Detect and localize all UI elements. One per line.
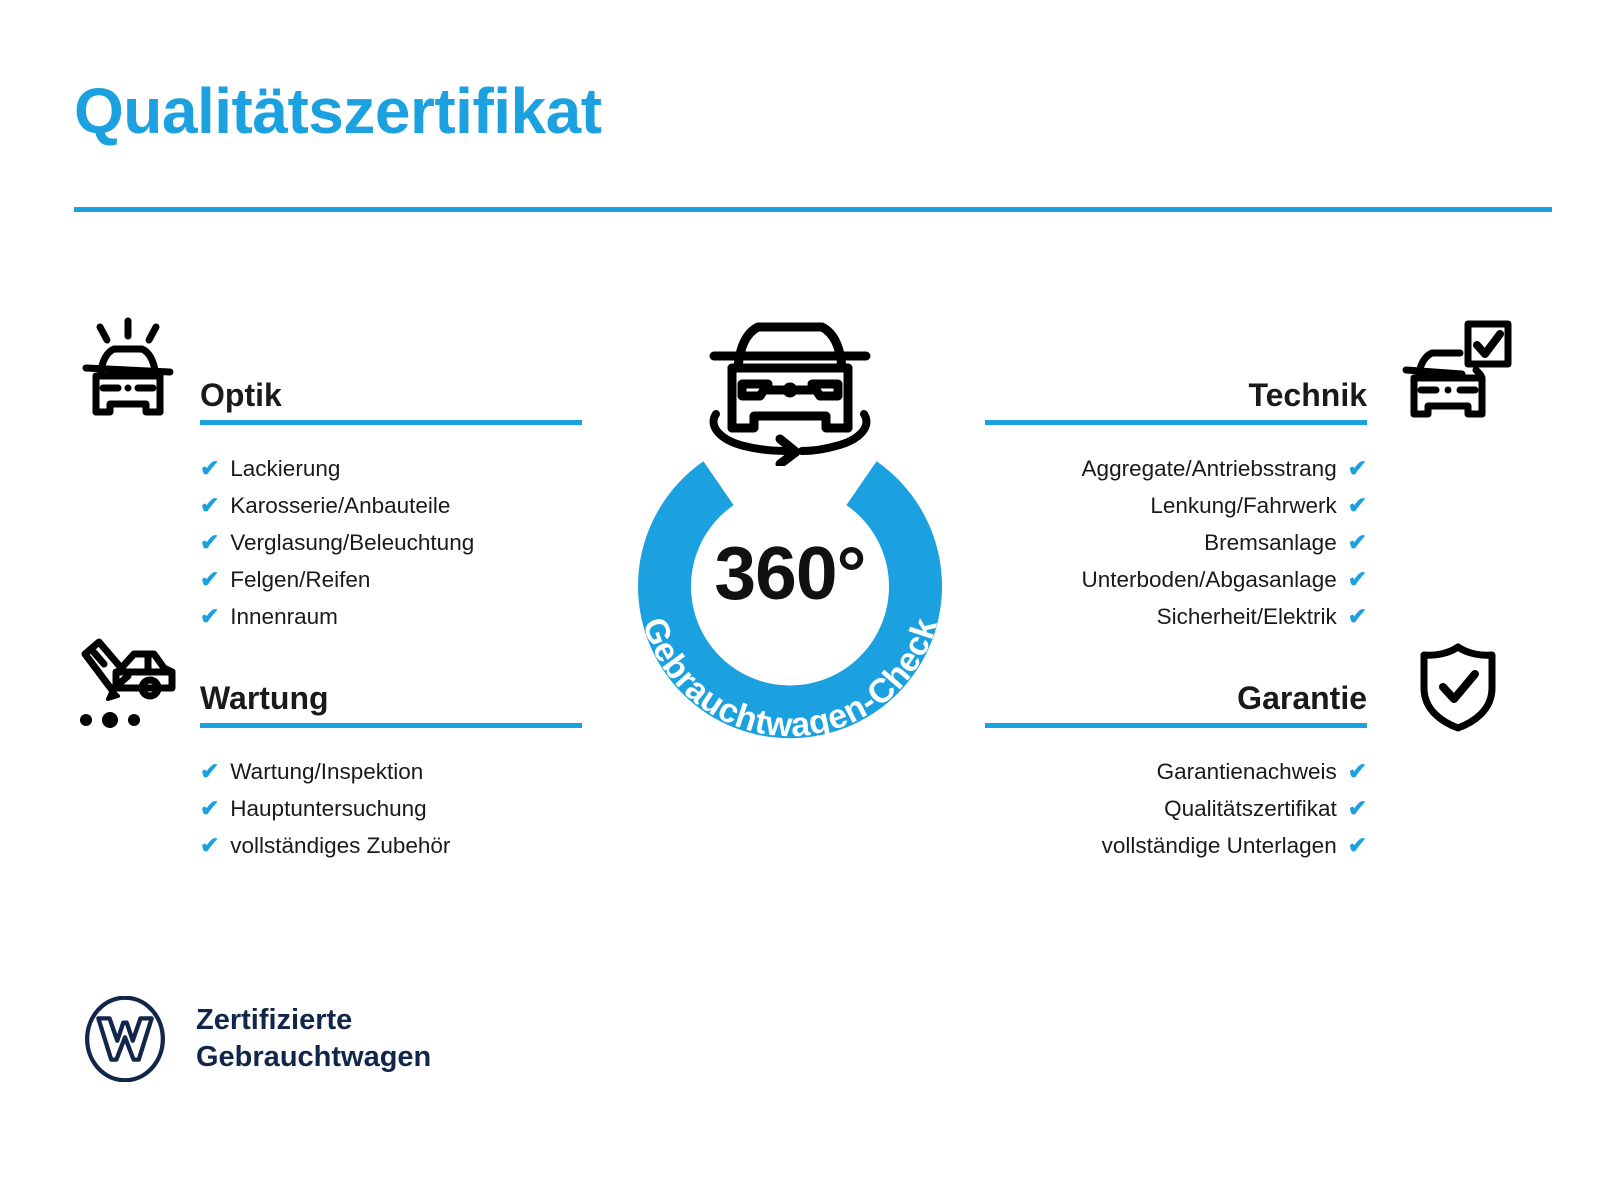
list-item: ✔Felgen/Reifen [200, 561, 582, 598]
volkswagen-logo [82, 996, 168, 1082]
checklist: Aggregate/Antriebsstrang✔ Lenkung/Fahrwe… [985, 450, 1367, 635]
list-item: ✔vollständiges Zubehör [200, 827, 582, 864]
list-item: Sicherheit/Elektrik✔ [985, 598, 1367, 635]
list-item-label: Hauptuntersuchung [230, 790, 426, 827]
check-icon: ✔ [200, 450, 219, 487]
list-item-label: Sicherheit/Elektrik [1157, 598, 1337, 635]
check-icon: ✔ [200, 561, 219, 598]
list-item-label: Verglasung/Beleuchtung [230, 524, 474, 561]
check-icon: ✔ [1348, 827, 1367, 864]
list-item: ✔Hauptuntersuchung [200, 790, 582, 827]
list-item: vollständige Unterlagen✔ [985, 827, 1367, 864]
check-icon: ✔ [1348, 598, 1367, 635]
section-garantie: Garantie Garantienachweis✔ Qualitätszert… [985, 666, 1367, 864]
check-icon: ✔ [200, 790, 219, 827]
car-shine-icon [72, 316, 184, 416]
list-item-label: Qualitätszertifikat [1164, 790, 1337, 827]
section-title: Garantie [1237, 682, 1367, 714]
check-icon: ✔ [1348, 753, 1367, 790]
check-icon: ✔ [1348, 487, 1367, 524]
section-divider [200, 723, 582, 728]
list-item: Unterboden/Abgasanlage✔ [985, 561, 1367, 598]
list-item-label: vollständige Unterlagen [1102, 827, 1337, 864]
list-item-label: Aggregate/Antriebsstrang [1082, 450, 1337, 487]
list-item: ✔Verglasung/Beleuchtung [200, 524, 582, 561]
section-divider [985, 420, 1367, 425]
checklist: ✔Wartung/Inspektion ✔Hauptuntersuchung ✔… [200, 753, 582, 864]
section-header: Optik [200, 363, 582, 419]
vw-certified-lockup: Zertifizierte Gebrauchtwagen [82, 996, 431, 1082]
list-item: ✔Wartung/Inspektion [200, 753, 582, 790]
check-icon: ✔ [1348, 450, 1367, 487]
shield-check-icon [1412, 642, 1504, 732]
section-divider [200, 420, 582, 425]
footer-line-1: Zertifizierte [196, 1002, 431, 1039]
footer-text: Zertifizierte Gebrauchtwagen [196, 1002, 431, 1076]
list-item: Qualitätszertifikat✔ [985, 790, 1367, 827]
list-item-label: Innenraum [230, 598, 338, 635]
check-icon: ✔ [200, 487, 219, 524]
car-rotate-icon [676, 306, 904, 466]
list-item: Aggregate/Antriebsstrang✔ [985, 450, 1367, 487]
list-item: Garantienachweis✔ [985, 753, 1367, 790]
badge-center-label: 360° [578, 536, 1002, 611]
check-icon: ✔ [1348, 790, 1367, 827]
section-title: Optik [200, 379, 282, 411]
list-item-label: Bremsanlage [1204, 524, 1337, 561]
section-title: Technik [1248, 379, 1367, 411]
section-title: Wartung [200, 682, 329, 714]
list-item: ✔Innenraum [200, 598, 582, 635]
checklist: Garantienachweis✔ Qualitätszertifikat✔ v… [985, 753, 1367, 864]
list-item-label: Karosserie/Anbauteile [230, 487, 450, 524]
list-item: Lenkung/Fahrwerk✔ [985, 487, 1367, 524]
list-item-label: Lackierung [230, 450, 340, 487]
list-item: ✔Karosserie/Anbauteile [200, 487, 582, 524]
list-item: Bremsanlage✔ [985, 524, 1367, 561]
check-icon: ✔ [1348, 524, 1367, 561]
footer-line-2: Gebrauchtwagen [196, 1039, 431, 1076]
check-icon: ✔ [1348, 561, 1367, 598]
list-item: ✔Lackierung [200, 450, 582, 487]
header-divider [74, 207, 1552, 212]
section-technik: Technik Aggregate/Antriebsstrang✔ Lenkun… [985, 363, 1367, 635]
check-icon: ✔ [200, 598, 219, 635]
list-item-label: vollständiges Zubehör [230, 827, 450, 864]
section-header: Technik [985, 363, 1367, 419]
section-header: Garantie [985, 666, 1367, 722]
check-icon: ✔ [200, 524, 219, 561]
list-item-label: Unterboden/Abgasanlage [1082, 561, 1337, 598]
section-wartung: Wartung ✔Wartung/Inspektion ✔Hauptunters… [200, 666, 582, 864]
car-checkbox-icon [1400, 318, 1512, 418]
gebrauchtwagen-check-badge: Gebrauchtwagen-Check 360° [578, 306, 1002, 766]
list-item-label: Felgen/Reifen [230, 561, 370, 598]
check-icon: ✔ [200, 753, 219, 790]
page-title: Qualitätszertifikat [74, 78, 602, 145]
checklist: ✔Lackierung ✔Karosserie/Anbauteile ✔Verg… [200, 450, 582, 635]
section-optik: Optik ✔Lackierung ✔Karosserie/Anbauteile… [200, 363, 582, 635]
check-icon: ✔ [200, 827, 219, 864]
section-divider [985, 723, 1367, 728]
list-item-label: Garantienachweis [1157, 753, 1337, 790]
section-header: Wartung [200, 666, 582, 722]
list-item-label: Wartung/Inspektion [230, 753, 423, 790]
pencil-car-icon [72, 636, 182, 728]
list-item-label: Lenkung/Fahrwerk [1150, 487, 1336, 524]
